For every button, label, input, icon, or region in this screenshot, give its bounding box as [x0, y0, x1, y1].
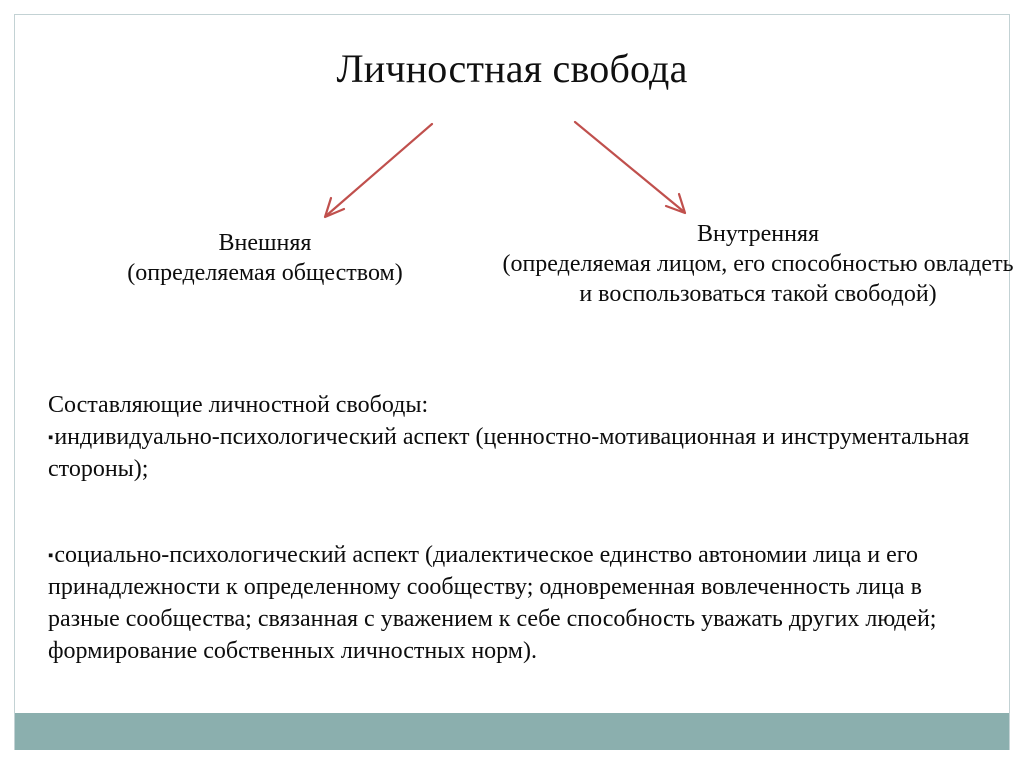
list-item-text: индивидуально-психологический аспект (це… [48, 424, 969, 482]
components-heading: Составляющие личностной свободы: [48, 390, 978, 421]
square-bullet-icon: ▪ [48, 430, 53, 446]
branch-internal: Внутренняя (определяемая лицом, его спос… [500, 219, 1016, 309]
branch-external-heading: Внешняя [55, 228, 475, 258]
branch-external-detail: (определяемая обществом) [55, 258, 475, 288]
list-item: ▪индивидуально-психологический аспект (ц… [48, 422, 978, 486]
square-bullet-icon: ▪ [48, 548, 53, 564]
list-item-text: социально-психологический аспект (диалек… [48, 542, 936, 664]
branch-internal-detail: (определяемая лицом, его способностью ов… [500, 249, 1016, 309]
branch-internal-heading: Внутренняя [500, 219, 1016, 249]
branch-external: Внешняя (определяемая обществом) [55, 228, 475, 288]
slide-canvas: Личностная свобода Внешняя (определяемая… [0, 0, 1024, 767]
components-section: Составляющие личностной свободы: ▪индиви… [48, 390, 978, 668]
footer-band [15, 713, 1009, 750]
page-title: Личностная свобода [0, 47, 1024, 91]
list-item: ▪социально-психологический аспект (диале… [48, 540, 978, 668]
